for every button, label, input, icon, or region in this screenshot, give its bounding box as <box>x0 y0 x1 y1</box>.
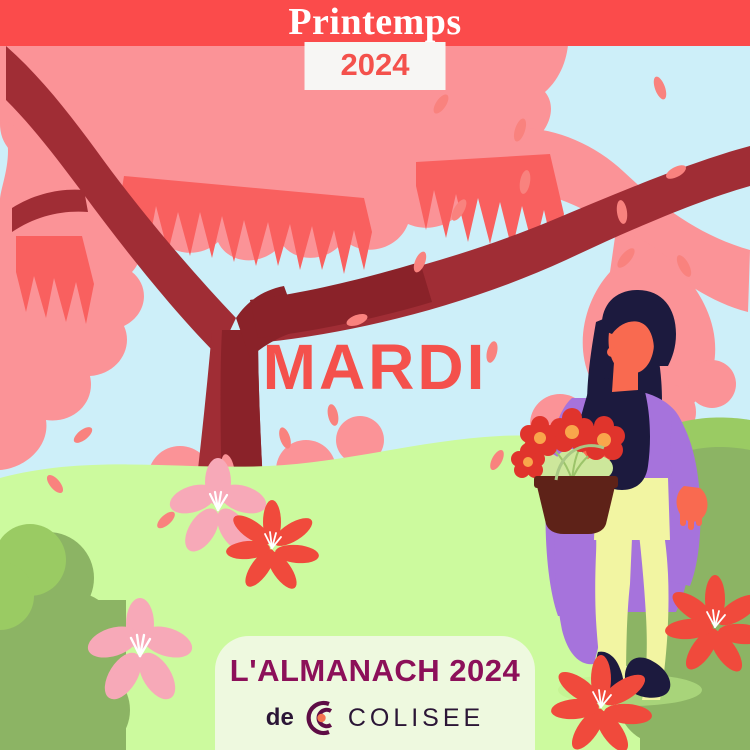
brand-name: COLISEE <box>348 704 484 733</box>
season-title: Printemps <box>0 0 750 46</box>
red-flower-2 <box>664 575 750 676</box>
pink-blossom-flower-2 <box>84 598 196 705</box>
red-flower-3 <box>550 655 653 750</box>
almanach-poster: MARDI Printemps 2024 L'ALMANACH 2024 de … <box>0 0 750 750</box>
flower-basket <box>511 408 625 534</box>
colisee-double-c-logo-icon <box>301 698 341 738</box>
almanach-title: L'ALMANACH 2024 <box>215 655 535 686</box>
year-badge: 2024 <box>305 42 446 90</box>
brand-prefix: de <box>266 704 294 732</box>
red-flower-1 <box>225 500 319 593</box>
brand-lockup: de COLISEE <box>215 698 535 738</box>
year-badge-label: 2024 <box>341 47 410 82</box>
day-label: MARDI <box>0 330 750 404</box>
footer-card: L'ALMANACH 2024 de COLISEE <box>215 636 535 750</box>
